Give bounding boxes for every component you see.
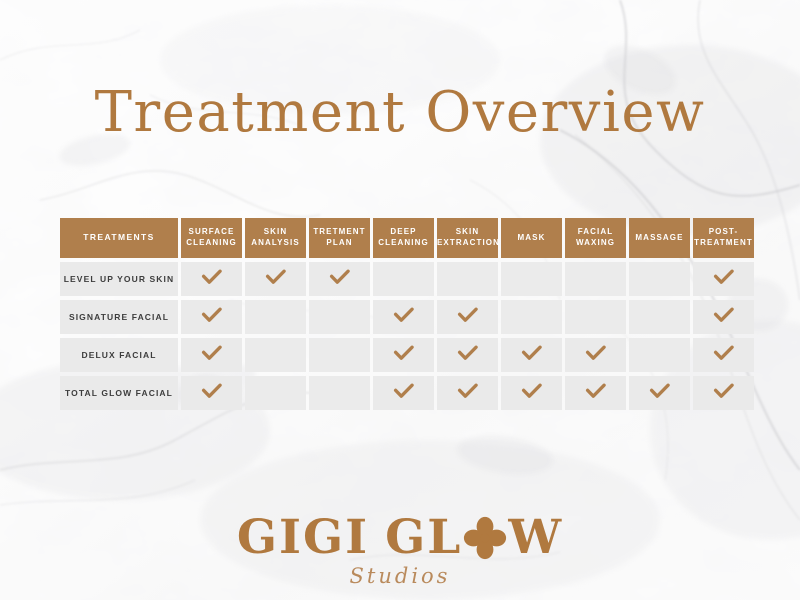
cell-empty[interactable] <box>629 262 690 296</box>
table-header-row: TREATMENTS SURFACE CLEANING SKIN ANALYSI… <box>60 218 754 258</box>
logo-word-gl: GL <box>385 514 462 561</box>
table-row: TOTAL GLOW FACIAL <box>60 376 754 410</box>
column-header-skin-extraction[interactable]: SKIN EXTRACTION <box>437 218 498 258</box>
check-icon <box>521 382 543 400</box>
cell-empty[interactable] <box>629 338 690 372</box>
table-row: SIGNATURE FACIAL <box>60 300 754 334</box>
logo-word-w: W <box>508 514 563 561</box>
treatment-comparison-table: TREATMENTS SURFACE CLEANING SKIN ANALYSI… <box>57 214 757 414</box>
check-icon <box>201 382 223 400</box>
page-title: Treatment Overview <box>0 80 800 145</box>
cell-checked[interactable] <box>693 262 754 296</box>
cell-checked[interactable] <box>181 338 242 372</box>
row-label-1[interactable]: SIGNATURE FACIAL <box>60 300 178 334</box>
check-icon <box>393 306 415 324</box>
cell-checked[interactable] <box>373 338 434 372</box>
cell-checked[interactable] <box>629 376 690 410</box>
cell-checked[interactable] <box>181 262 242 296</box>
cell-empty[interactable] <box>501 300 562 334</box>
check-icon <box>265 268 287 286</box>
cell-empty[interactable] <box>501 262 562 296</box>
cell-checked[interactable] <box>437 376 498 410</box>
cell-checked[interactable] <box>501 376 562 410</box>
check-icon <box>713 306 735 324</box>
cell-empty[interactable] <box>565 300 626 334</box>
cell-checked[interactable] <box>373 376 434 410</box>
table-row: LEVEL UP YOUR SKIN <box>60 262 754 296</box>
check-icon <box>393 382 415 400</box>
cell-empty[interactable] <box>245 376 306 410</box>
column-header-mask[interactable]: MASK <box>501 218 562 258</box>
cell-checked[interactable] <box>565 338 626 372</box>
cell-checked[interactable] <box>437 338 498 372</box>
cell-empty[interactable] <box>373 262 434 296</box>
cell-checked[interactable] <box>309 262 370 296</box>
logo-tagline: Studios <box>0 564 800 588</box>
check-icon <box>521 344 543 362</box>
cell-empty[interactable] <box>309 300 370 334</box>
cell-empty[interactable] <box>437 262 498 296</box>
check-icon <box>329 268 351 286</box>
infographic-page: Treatment Overview TREATMENTS SURFACE CL… <box>0 0 800 600</box>
brand-logo: GIGI GL W Studios <box>0 512 800 588</box>
check-icon <box>393 344 415 362</box>
check-icon <box>457 306 479 324</box>
check-icon <box>585 382 607 400</box>
row-label-3[interactable]: TOTAL GLOW FACIAL <box>60 376 178 410</box>
column-header-post-treatment[interactable]: POST-TREATMENT <box>693 218 754 258</box>
check-icon <box>201 344 223 362</box>
check-icon <box>713 382 735 400</box>
cell-empty[interactable] <box>245 338 306 372</box>
check-icon <box>201 306 223 324</box>
four-petal-flower-icon <box>463 516 507 560</box>
check-icon <box>713 344 735 362</box>
table-body: LEVEL UP YOUR SKINSIGNATURE FACIALDELUX … <box>60 262 754 410</box>
cell-empty[interactable] <box>309 376 370 410</box>
column-header-tretment-plan[interactable]: TRETMENT PLAN <box>309 218 370 258</box>
cell-empty[interactable] <box>565 262 626 296</box>
table-row: DELUX FACIAL <box>60 338 754 372</box>
check-icon <box>457 344 479 362</box>
column-header-surface-cleaning[interactable]: SURFACE CLEANING <box>181 218 242 258</box>
cell-checked[interactable] <box>501 338 562 372</box>
check-icon <box>201 268 223 286</box>
logo-word-gigi: GIGI <box>237 514 369 561</box>
cell-empty[interactable] <box>309 338 370 372</box>
cell-checked[interactable] <box>693 338 754 372</box>
cell-checked[interactable] <box>373 300 434 334</box>
cell-checked[interactable] <box>693 300 754 334</box>
cell-empty[interactable] <box>629 300 690 334</box>
check-icon <box>457 382 479 400</box>
cell-checked[interactable] <box>181 376 242 410</box>
check-icon <box>649 382 671 400</box>
row-label-2[interactable]: DELUX FACIAL <box>60 338 178 372</box>
row-label-0[interactable]: LEVEL UP YOUR SKIN <box>60 262 178 296</box>
cell-checked[interactable] <box>693 376 754 410</box>
column-header-facial-waxing[interactable]: FACIAL WAXING <box>565 218 626 258</box>
column-header-treatments[interactable]: TREATMENTS <box>60 218 178 258</box>
cell-checked[interactable] <box>245 262 306 296</box>
cell-checked[interactable] <box>181 300 242 334</box>
check-icon <box>585 344 607 362</box>
table-header: TREATMENTS SURFACE CLEANING SKIN ANALYSI… <box>60 218 754 258</box>
cell-checked[interactable] <box>565 376 626 410</box>
cell-empty[interactable] <box>245 300 306 334</box>
check-icon <box>713 268 735 286</box>
logo-wordmark: GIGI GL W <box>0 512 800 562</box>
column-header-deep-cleaning[interactable]: DEEP CLEANING <box>373 218 434 258</box>
column-header-massage[interactable]: MASSAGE <box>629 218 690 258</box>
column-header-skin-analysis[interactable]: SKIN ANALYSIS <box>245 218 306 258</box>
cell-checked[interactable] <box>437 300 498 334</box>
